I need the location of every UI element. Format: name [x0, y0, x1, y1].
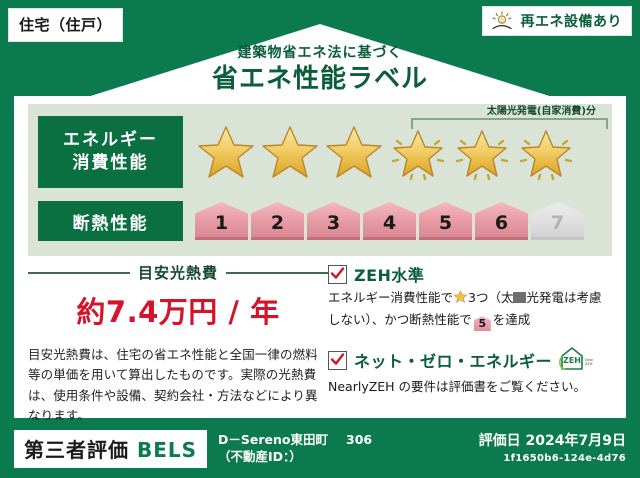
divider-left — [28, 272, 130, 274]
zeh-standard-description: エネルギー消費性能で3つ（太光発電は考慮しない）、かつ断熱性能で5を達成 — [328, 288, 612, 331]
footer-bar: 第三者評価 BELS D－Sereno東田町306 （不動産ID：） 評価日 2… — [0, 420, 640, 478]
lower-content: 目安光熱費 約7.4万円 / 年 目安光熱費は、住宅の省エネ性能と全国一律の燃料… — [28, 262, 612, 412]
insulation-level-badge: 3 — [307, 202, 360, 240]
insulation-level-badge: 4 — [363, 202, 416, 240]
utility-cost-note: 目安光熱費は、住宅の省エネ性能と全国一律の燃料等の単価を用いて算出したものです。… — [28, 345, 328, 426]
insulation-label-box: 断熱性能 — [38, 201, 183, 241]
insulation-level-badge: 1 — [195, 202, 248, 240]
property-name: D－Sereno東田町 — [218, 432, 328, 447]
property-name-line: D－Sereno東田町306 — [218, 432, 372, 449]
zeh-house-logo-icon: ZEH Nearly ZEH — [559, 345, 593, 375]
property-info: D－Sereno東田町306 （不動産ID：） — [218, 432, 372, 466]
energy-performance-row: エネルギー 消費性能 — [28, 114, 612, 190]
sun-icon: D — [489, 11, 515, 31]
redacted-block — [513, 292, 526, 303]
star-icon-inline — [453, 289, 468, 310]
zeh-section: ZEH水準 エネルギー消費性能で3つ（太光発電は考慮しない）、かつ断熱性能で5を… — [328, 262, 612, 412]
utility-cost-heading-text: 目安光熱費 — [138, 262, 218, 283]
star-solar-icon — [451, 121, 513, 183]
star-icon — [259, 121, 321, 183]
energy-star-rating — [195, 121, 577, 183]
svg-text:ZEH: ZEH — [585, 362, 593, 366]
insulation-level-badge: 5 — [419, 202, 472, 240]
zeh-desc-part2: 3つ（太 — [468, 290, 513, 305]
insulation-performance-row: 断熱性能 1 2 3 4 5 6 7 — [28, 198, 612, 244]
insulation-level-badge-inactive: 7 — [531, 202, 584, 240]
zeh-desc-part1: エネルギー消費性能で — [328, 290, 453, 305]
net-zero-energy-title: ネット・ゼロ・エネルギー — [354, 348, 552, 372]
zeh-desc-part4: を達成 — [493, 312, 531, 327]
insulation-level-scale: 1 2 3 4 5 6 7 — [195, 202, 584, 240]
utility-cost-heading: 目安光熱費 — [28, 262, 328, 283]
bels-mark: 第三者評価 BELS — [14, 430, 207, 468]
evaluation-info: 評価日 2024年7月9日 1f1650b6-124e-4d76 — [479, 430, 626, 464]
bels-prefix: 第三者評価 — [24, 438, 137, 462]
insulation-level-badge: 2 — [251, 202, 304, 240]
renewable-chip-label: 再エネ設備あり — [521, 11, 623, 31]
energy-label-line1: エネルギー — [63, 129, 158, 152]
utility-cost-section: 目安光熱費 約7.4万円 / 年 目安光熱費は、住宅の省エネ性能と全国一律の燃料… — [28, 262, 328, 412]
insulation-level-inline-badge: 5 — [474, 316, 491, 331]
room-number: 306 — [346, 432, 372, 447]
zeh-standard-row: ZEH水準 — [328, 262, 612, 286]
checkbox-checked-icon — [328, 265, 347, 284]
label-title: 省エネ性能ラベル — [0, 58, 640, 95]
zeh-standard-title: ZEH水準 — [354, 262, 424, 286]
checkbox-checked-icon — [328, 351, 347, 370]
net-zero-energy-row: ネット・ゼロ・エネルギー ZEH Nearly ZEH — [328, 345, 612, 375]
bels-logo-text: BELS — [137, 438, 197, 462]
utility-cost-value: 約7.4万円 / 年 — [28, 289, 328, 331]
star-icon — [323, 121, 385, 183]
housing-type-chip: 住宅（住戸） — [8, 8, 123, 42]
insulation-level-badge: 6 — [475, 202, 528, 240]
star-solar-icon — [515, 121, 577, 183]
energy-label-line2: 消費性能 — [73, 152, 149, 175]
energy-performance-label-box: エネルギー 消費性能 — [38, 116, 183, 188]
star-icon — [195, 121, 257, 183]
energy-performance-label: 住宅（住戸） D 再エネ設備あり 建築物省エネ法に基づく 省エネ性能ラベル 太陽… — [0, 0, 640, 478]
evaluation-date: 評価日 2024年7月9日 — [479, 430, 626, 450]
renewable-equipment-chip: D 再エネ設備あり — [482, 6, 633, 36]
star-solar-icon — [387, 121, 449, 183]
divider-right — [226, 272, 328, 274]
net-zero-energy-description: NearlyZEH の要件は評価書をご覧ください。 — [328, 377, 612, 397]
evaluation-hash: 1f1650b6-124e-4d76 — [479, 453, 626, 464]
svg-text:ZEH: ZEH — [563, 356, 581, 365]
performance-panel: 太陽光発電(自家消費)分 エネルギー 消費性能 — [28, 104, 612, 256]
property-id-label: （不動産ID：） — [218, 449, 372, 466]
